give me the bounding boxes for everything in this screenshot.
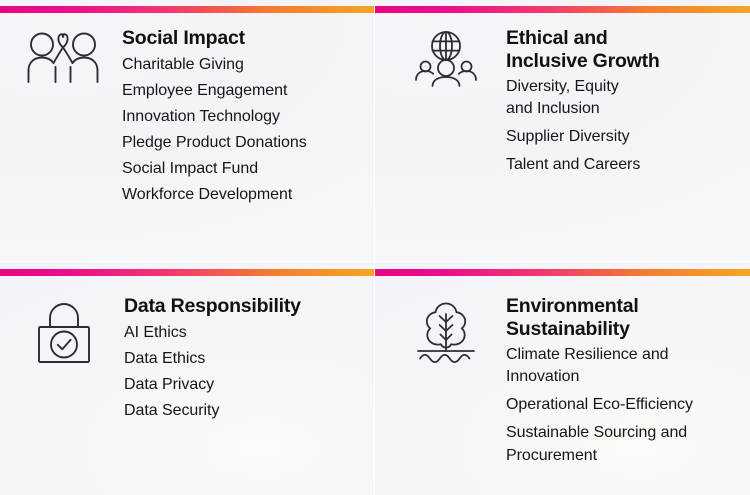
topic-list: Climate Resilience and Innovation Operat…: [506, 344, 750, 466]
list-item[interactable]: Workforce Development: [122, 184, 374, 206]
list-item[interactable]: Employee Engagement: [122, 80, 374, 102]
lock-check-icon: [26, 295, 102, 365]
card-text: Environmental Sustainability Climate Res…: [486, 295, 750, 473]
topic-list: Diversity, Equity and Inclusion Supplier…: [506, 76, 750, 176]
gradient-rule-icon: [375, 6, 750, 13]
card-title: Data Responsibility: [124, 295, 374, 318]
people-heart-icon: [22, 27, 104, 86]
list-item[interactable]: Social Impact Fund: [122, 158, 374, 180]
topic-list: AI Ethics Data Ethics Data Privacy Data …: [124, 322, 374, 422]
list-item[interactable]: Data Security: [124, 400, 374, 422]
card-title: Ethical and Inclusive Growth: [506, 27, 750, 72]
card-social-impact[interactable]: Social Impact Charitable Giving Employee…: [0, 0, 375, 262]
card-title: Social Impact: [122, 27, 374, 50]
card-text: Social Impact Charitable Giving Employee…: [104, 27, 374, 206]
list-item[interactable]: Climate Resilience and Innovation: [506, 344, 750, 388]
list-item[interactable]: Diversity, Equity and Inclusion: [506, 76, 750, 120]
tree-water-icon: [406, 295, 486, 365]
card-environmental-sustainability[interactable]: Environmental Sustainability Climate Res…: [375, 262, 750, 495]
list-item[interactable]: Data Privacy: [124, 374, 374, 396]
list-item[interactable]: Sustainable Sourcing and Procurement: [506, 422, 750, 466]
list-item[interactable]: Charitable Giving: [122, 54, 374, 76]
list-item[interactable]: AI Ethics: [124, 322, 374, 344]
gradient-rule-icon: [0, 6, 375, 13]
card-body: Ethical and Inclusive Growth Diversity, …: [375, 0, 750, 183]
gradient-rule-icon: [0, 269, 375, 276]
card-data-responsibility[interactable]: Data Responsibility AI Ethics Data Ethic…: [0, 262, 375, 495]
card-body: Environmental Sustainability Climate Res…: [375, 262, 750, 473]
list-item[interactable]: Data Ethics: [124, 348, 374, 370]
accent-bar-ethical-inclusive-growth: [375, 0, 750, 7]
list-item[interactable]: Supplier Diversity: [506, 126, 750, 148]
accent-bar-data-responsibility: [0, 263, 374, 270]
card-text: Data Responsibility AI Ethics Data Ethic…: [102, 295, 374, 422]
card-text: Ethical and Inclusive Growth Diversity, …: [485, 27, 750, 183]
globe-people-icon: [407, 27, 485, 88]
card-body: Data Responsibility AI Ethics Data Ethic…: [0, 262, 374, 422]
accent-bar-environmental-sustainability: [375, 263, 750, 270]
list-item[interactable]: Talent and Careers: [506, 154, 750, 176]
list-item[interactable]: Pledge Product Donations: [122, 132, 374, 154]
gradient-rule-icon: [375, 269, 750, 276]
list-item[interactable]: Innovation Technology: [122, 106, 374, 128]
esg-pillars-grid: Social Impact Charitable Giving Employee…: [0, 0, 750, 495]
topic-list: Charitable Giving Employee Engagement In…: [122, 54, 374, 206]
accent-bar-social-impact: [0, 0, 374, 7]
card-ethical-inclusive-growth[interactable]: Ethical and Inclusive Growth Diversity, …: [375, 0, 750, 262]
card-title: Environmental Sustainability: [506, 295, 750, 340]
card-body: Social Impact Charitable Giving Employee…: [0, 0, 374, 206]
list-item[interactable]: Operational Eco-Efficiency: [506, 394, 750, 416]
